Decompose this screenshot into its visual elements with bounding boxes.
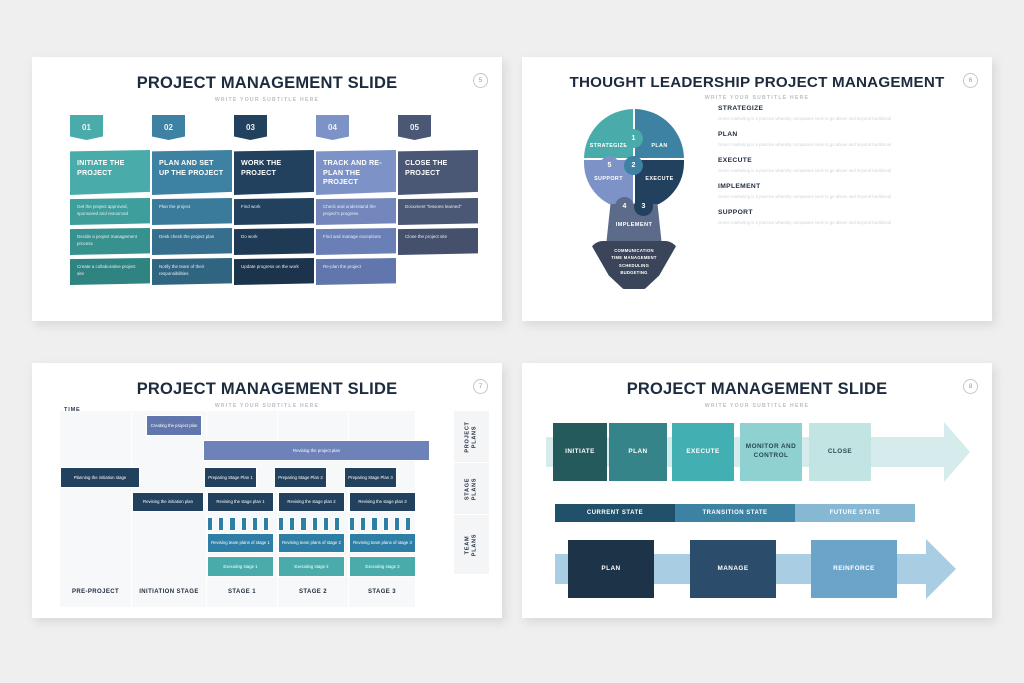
gantt-bar[interactable]: Executing stage 3 (349, 556, 416, 577)
bulb-step-number[interactable]: 1 (624, 129, 643, 148)
slide-process-arrows[interactable]: PROJECT MANAGEMENT SLIDE WRITE YOUR SUBT… (522, 363, 992, 618)
page-title: THOUGHT LEADERSHIP PROJECT MANAGEMENT (522, 57, 992, 91)
flag-column[interactable]: 03WORK THE PROJECTFind workDo workUpdate… (234, 115, 314, 285)
bulb-quadrant[interactable]: PLAN (635, 109, 684, 158)
gantt-chart: PRE-PROJECTINITIATION STAGESTAGE 1STAGE … (46, 411, 489, 607)
bulb-step-number[interactable]: 5 (600, 156, 619, 175)
list-item-title: SUPPORT (718, 209, 976, 216)
flag-heading[interactable]: INITIATE THE PROJECT (70, 150, 150, 195)
gantt-bar[interactable]: Revising the project plan (203, 440, 430, 461)
gantt-stage-label: STAGE 1 (228, 589, 256, 607)
process-step-box[interactable]: PLAN (568, 540, 654, 598)
slide-project-timeline-gantt[interactable]: PROJECT MANAGEMENT SLIDE WRITE YOUR SUBT… (32, 363, 502, 618)
flag-item[interactable]: Get the project approved, sponsored and … (70, 198, 150, 225)
gantt-tick (241, 517, 247, 531)
gantt-bar[interactable]: Planning the initiation stage (60, 467, 140, 488)
bulb-quadrant-label: PLAN (651, 143, 667, 158)
gantt-bar[interactable]: Creating the project plan (146, 415, 202, 436)
flag-item[interactable]: Find work (234, 198, 314, 225)
flag-column[interactable]: 01INITIATE THE PROJECTGet the project ap… (70, 115, 150, 285)
gantt-stage-label: STAGE 2 (299, 589, 327, 607)
gantt-tick (371, 517, 377, 531)
arrow-head-icon (944, 422, 970, 482)
page-number-badge: 6 (963, 73, 978, 88)
slide-deck-canvas: PROJECT MANAGEMENT SLIDE WRITE YOUR SUBT… (0, 0, 1024, 683)
list-item[interactable]: STRATEGIZEGreen marketing is a practice … (718, 105, 976, 122)
gantt-tick (383, 517, 389, 531)
gantt-bar[interactable]: Revising team plans of stage 3 (349, 533, 416, 553)
flag-number-badge: 01 (70, 115, 103, 140)
bulb-quadrant-label: EXECUTE (645, 160, 673, 182)
gantt-tick (218, 517, 224, 531)
process-step-box[interactable]: EXECUTE (672, 423, 734, 481)
process-step-box[interactable]: MONITOR AND CONTROL (740, 423, 802, 481)
page-title: PROJECT MANAGEMENT SLIDE (32, 57, 502, 93)
flag-heading[interactable]: PLAN AND SET UP THE PROJECT (152, 150, 232, 195)
page-number-badge: 8 (963, 379, 978, 394)
page-subtitle: WRITE YOUR SUBTITLE HERE (32, 97, 502, 103)
gantt-tick (278, 517, 284, 531)
flag-number-badge: 02 (152, 115, 185, 140)
lightbulb-diagram: STRATEGIZEPLANSUPPORTEXECUTE IMPLEMENT C… (572, 109, 697, 294)
flag-item[interactable]: Desk check the project plan (152, 228, 232, 255)
process-step-box[interactable]: MANAGE (690, 540, 776, 598)
gantt-row-label: STAGEPLANS (454, 463, 489, 515)
process-step-box[interactable]: PLAN (609, 423, 667, 481)
gantt-row-label: TEAMPLANS (454, 515, 489, 575)
list-item-title: STRATEGIZE (718, 105, 976, 112)
page-subtitle: WRITE YOUR SUBTITLE HERE (522, 403, 992, 409)
state-segment[interactable]: CURRENT STATE (555, 504, 675, 522)
slide-project-management-flags[interactable]: PROJECT MANAGEMENT SLIDE WRITE YOUR SUBT… (32, 57, 502, 321)
gantt-tick (323, 517, 329, 531)
gantt-row-label-text: TEAMPLANS (465, 533, 479, 555)
state-segment[interactable]: FUTURE STATE (795, 504, 915, 522)
gantt-bar[interactable]: Executing stage 1 (207, 556, 274, 577)
flag-number-badge: 04 (316, 115, 349, 140)
gantt-bar[interactable]: Revising team plans of stage 2 (278, 533, 345, 553)
flag-heading[interactable]: TRACK AND RE-PLAN THE PROJECT (316, 150, 396, 195)
list-item-title: PLAN (718, 131, 976, 138)
flag-heading[interactable]: WORK THE PROJECT (234, 150, 314, 195)
gantt-bar[interactable]: Preparing Stage Plan 1 (204, 467, 257, 488)
gantt-tick (360, 517, 366, 531)
process-step-box[interactable]: INITIATE (553, 423, 607, 481)
page-number-badge: 5 (473, 73, 488, 88)
gantt-row-label-text: STAGEPLANS (465, 477, 479, 499)
gantt-tick (289, 517, 295, 531)
list-item[interactable]: EXECUTEGreen marketing is a practice whe… (718, 157, 976, 174)
list-item-description: Green marketing is a practice whereby co… (718, 194, 976, 200)
page-subtitle: WRITE YOUR SUBTITLE HERE (32, 403, 502, 409)
gantt-bar[interactable]: Executing stage 2 (278, 556, 345, 577)
gantt-bar[interactable]: Revising team plans of stage 1 (207, 533, 274, 553)
bulb-description-list: STRATEGIZEGreen marketing is a practice … (718, 105, 976, 235)
state-bar: CURRENT STATETRANSITION STATEFUTURE STAT… (522, 504, 992, 524)
gantt-row-label: PROJECTPLANS (454, 411, 489, 463)
list-item-description: Green marketing is a practice whereby co… (718, 142, 976, 148)
flag-item[interactable]: Decide a project management process (70, 228, 150, 255)
gantt-bar[interactable]: Preparing Stage Plan 2 (274, 467, 327, 488)
bulb-neck-label: IMPLEMENT (616, 222, 653, 228)
flag-column[interactable]: 04TRACK AND RE-PLAN THE PROJECTCheck and… (316, 115, 396, 285)
gantt-bar[interactable]: Revising the stage plan 3 (349, 492, 416, 512)
gantt-tick (349, 517, 355, 531)
gantt-tick (405, 517, 411, 531)
gantt-stage-label: PRE-PROJECT (72, 589, 119, 607)
bulb-base-skills: COMMUNICATIONTIME MANAGEMENTSCHEDULINGBU… (589, 241, 679, 289)
page-number-badge: 7 (473, 379, 488, 394)
list-item[interactable]: IMPLEMENTGreen marketing is a practice w… (718, 183, 976, 200)
list-item-description: Green marketing is a practice whereby co… (718, 168, 976, 174)
gantt-bar[interactable]: Preparing Stage Plan 3 (344, 467, 397, 488)
bulb-step-number[interactable]: 4 (615, 197, 634, 216)
flag-item[interactable]: Plan the project (152, 198, 232, 225)
page-subtitle: WRITE YOUR SUBTITLE HERE (522, 95, 992, 101)
gantt-tick (263, 517, 269, 531)
gantt-tick (334, 517, 340, 531)
list-item-title: EXECUTE (718, 157, 976, 164)
bulb-step-number[interactable]: 3 (634, 197, 653, 216)
list-item[interactable]: SUPPORTGreen marketing is a practice whe… (718, 209, 976, 226)
gantt-tick (207, 517, 213, 531)
flag-number-badge: 03 (234, 115, 267, 140)
state-segment[interactable]: TRANSITION STATE (675, 504, 795, 522)
bulb-base-line: SCHEDULING (589, 262, 679, 269)
flag-item[interactable]: Create a collaborative project site (70, 258, 150, 285)
flag-item[interactable]: Find and manage exceptions (316, 228, 396, 255)
process-arrow-bottom: PLANMANAGEREINFORCE (522, 538, 992, 600)
gantt-stage-label: STAGE 3 (368, 589, 396, 607)
bulb-base-line: TIME MANAGEMENT (589, 254, 679, 261)
slide-thought-leadership-bulb[interactable]: THOUGHT LEADERSHIP PROJECT MANAGEMENT WR… (522, 57, 992, 321)
bulb-step-number[interactable]: 2 (624, 156, 643, 175)
gantt-stage-label: INITIATION STAGE (139, 589, 199, 607)
list-item[interactable]: PLANGreen marketing is a practice whereb… (718, 131, 976, 148)
gantt-stage-column[interactable]: PRE-PROJECT (60, 411, 132, 607)
flag-item[interactable]: Re-plan the project (316, 258, 396, 285)
gantt-bar[interactable]: Revising the initiation plan (132, 492, 204, 512)
flag-number-badge: 05 (398, 115, 431, 140)
flag-item[interactable]: Notify the team of their responsibilitie… (152, 258, 232, 285)
bulb-base-line: COMMUNICATION (589, 247, 679, 254)
process-step-box[interactable]: CLOSE (809, 423, 871, 481)
gantt-tick (394, 517, 400, 531)
list-item-description: Green marketing is a practice whereby co… (718, 116, 976, 122)
flag-column[interactable]: 02PLAN AND SET UP THE PROJECTPlan the pr… (152, 115, 232, 285)
page-title: PROJECT MANAGEMENT SLIDE (32, 363, 502, 399)
flag-heading[interactable]: CLOSE THE PROJECT (398, 150, 478, 195)
list-item-title: IMPLEMENT (718, 183, 976, 190)
flag-column-group: 01INITIATE THE PROJECTGet the project ap… (32, 115, 502, 315)
gantt-bar[interactable]: Revising the stage plan 2 (278, 492, 345, 512)
flag-item[interactable]: Close the project site (398, 228, 478, 255)
bulb-base-line: BUDGETING (589, 269, 679, 276)
flag-item[interactable]: Document "lessons learned" (398, 198, 478, 225)
gantt-tick (300, 517, 306, 531)
gantt-tick (312, 517, 318, 531)
arrow-head-icon (926, 539, 956, 599)
gantt-tick (252, 517, 258, 531)
flag-item[interactable]: Do work (234, 228, 314, 255)
process-step-box[interactable]: REINFORCE (811, 540, 897, 598)
flag-column[interactable]: 05CLOSE THE PROJECTDocument "lessons lea… (398, 115, 478, 255)
gantt-row-label-text: PROJECTPLANS (465, 421, 479, 452)
flag-item[interactable]: Update progress on the work (234, 258, 314, 285)
flag-item[interactable]: Check and understand the project's progr… (316, 198, 396, 225)
gantt-tick (229, 517, 235, 531)
page-title: PROJECT MANAGEMENT SLIDE (522, 363, 992, 399)
list-item-description: Green marketing is a practice whereby co… (718, 220, 976, 226)
gantt-bar[interactable]: Revising the stage plan 1 (207, 492, 274, 512)
process-arrow-top: INITIATEPLANEXECUTEMONITOR AND CONTROLCL… (522, 421, 992, 483)
